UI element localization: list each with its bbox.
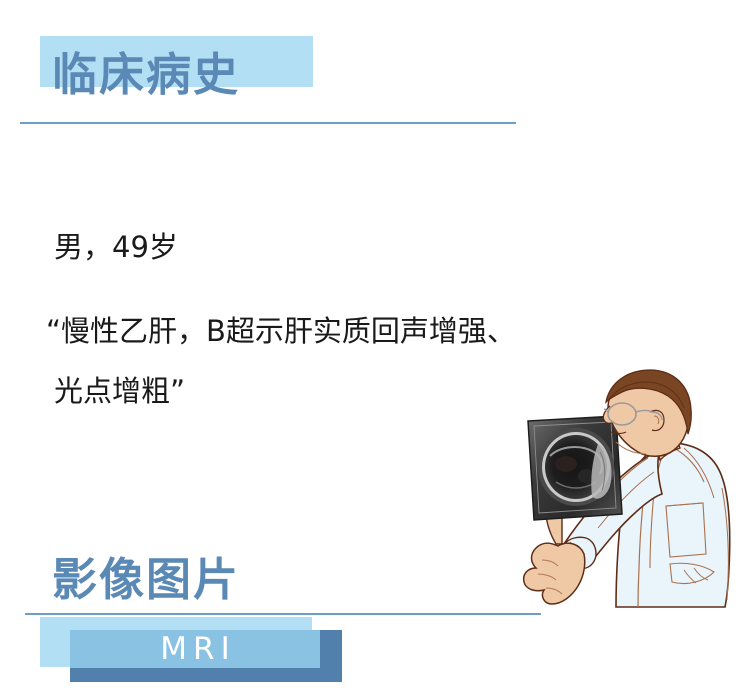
mri-badge-label: MRI [70, 630, 320, 668]
clinical-history-heading: 临床病史 [52, 49, 240, 101]
imaging-pictures-heading: 影像图片 [52, 554, 240, 606]
imaging-pictures-divider [25, 613, 541, 615]
mri-film [528, 416, 622, 520]
clinical-history-text-line-2: 光点增粗” [54, 371, 185, 411]
doctor-holding-mri-film-illustration [498, 368, 751, 620]
patient-demographics-text: 男，49岁 [54, 227, 178, 267]
clinical-history-text-line-1: “慢性乙肝，B超示肝实质回声增强、 [46, 311, 516, 351]
clinical-history-divider [20, 122, 516, 124]
